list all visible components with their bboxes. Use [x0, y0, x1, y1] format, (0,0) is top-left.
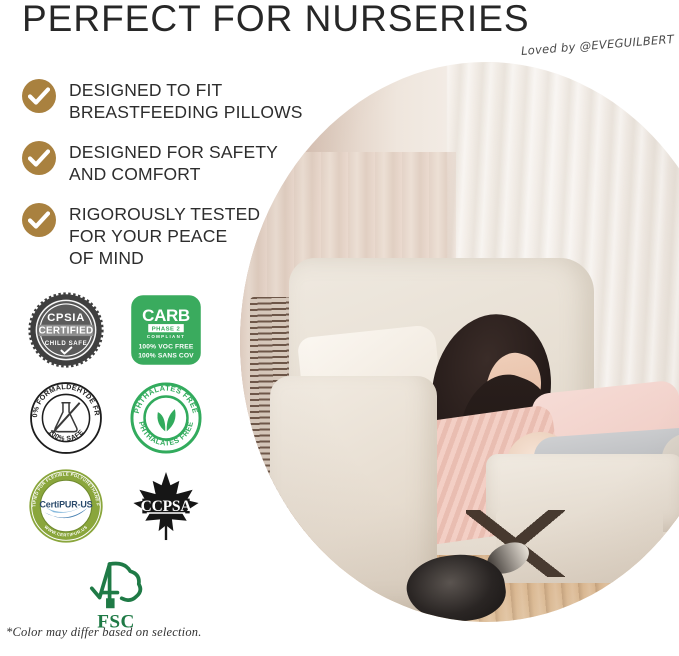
cpsia-certified-badge-icon: CPSIA CERTIFIED CHILD SAFE — [28, 292, 104, 368]
photo-vignette — [240, 62, 679, 622]
formaldehyde-free-badge-icon: 100% FORMALDEHYDE FREE 100% SAFE — [28, 380, 104, 456]
feature-label: DESIGNED TO FIT BREASTFEEDING PILLOWS — [69, 78, 303, 123]
svg-text:CertiPUR-US: CertiPUR-US — [39, 500, 92, 510]
feature-label: RIGOROUSLY TESTED FOR YOUR PEACE OF MIND — [69, 202, 260, 269]
svg-text:CERTIFIED: CERTIFIED — [39, 325, 94, 336]
fsc-tree-badge-icon: FSC — [80, 557, 152, 631]
feature-list: DESIGNED TO FIT BREASTFEEDING PILLOWS DE… — [22, 78, 303, 286]
badge-row: CPSIA CERTIFIED CHILD SAFE CARB PHASE 2 … — [16, 286, 216, 374]
lifestyle-photo — [240, 62, 679, 622]
certipur-us-badge-icon: CERTIFIED FOR FLEXIBLE POLYURETHANE FOAM… — [27, 467, 105, 545]
svg-text:CARB: CARB — [142, 306, 190, 325]
page-title: PERFECT FOR NURSERIES — [22, 0, 530, 40]
list-item: DESIGNED TO FIT BREASTFEEDING PILLOWS — [22, 78, 303, 123]
feature-label: DESIGNED FOR SAFETY AND COMFORT — [69, 140, 278, 185]
photo-credit: Loved by @EVEGUILBERT — [520, 32, 674, 58]
color-disclaimer: *Color may differ based on selection. — [6, 625, 202, 640]
ccpsa-maple-leaf-badge-icon: CCPSA — [129, 469, 203, 543]
certification-badges: CPSIA CERTIFIED CHILD SAFE CARB PHASE 2 … — [16, 286, 216, 638]
badge-row: CERTIFIED FOR FLEXIBLE POLYURETHANE FOAM… — [16, 462, 216, 550]
svg-text:100% VOC FREE: 100% VOC FREE — [139, 344, 194, 351]
product-feature-panel: PERFECT FOR NURSERIES Loved by @EVEGUILB… — [0, 0, 679, 656]
check-circle-icon — [22, 79, 56, 113]
svg-text:PHTHALATES FREE: PHTHALATES FREE — [132, 383, 200, 414]
svg-text:CHILD SAFE: CHILD SAFE — [45, 340, 88, 347]
svg-text:100% SAFE: 100% SAFE — [47, 429, 86, 443]
svg-text:100% SANS COV: 100% SANS COV — [138, 352, 194, 359]
badge-row: 100% FORMALDEHYDE FREE 100% SAFE — [16, 374, 216, 462]
carb-phase-2-badge-icon: CARB PHASE 2 COMPLIANT 100% VOC FREE 100… — [129, 293, 203, 367]
badge-cell: CERTIFIED FOR FLEXIBLE POLYURETHANE FOAM… — [16, 467, 116, 545]
check-circle-icon — [22, 203, 56, 237]
svg-text:CPSIA: CPSIA — [47, 312, 85, 324]
badge-cell: CCPSA — [116, 469, 216, 543]
phthalates-free-badge-icon: PHTHALATES FREE PHTHALATES FREE — [129, 381, 203, 455]
svg-text:PHASE 2: PHASE 2 — [152, 326, 181, 332]
badge-cell: PHTHALATES FREE PHTHALATES FREE — [116, 381, 216, 455]
svg-text:100% FORMALDEHYDE FREE: 100% FORMALDEHYDE FREE — [28, 380, 101, 418]
badge-cell: 100% FORMALDEHYDE FREE 100% SAFE — [16, 380, 116, 456]
list-item: RIGOROUSLY TESTED FOR YOUR PEACE OF MIND — [22, 202, 303, 269]
svg-text:COMPLIANT: COMPLIANT — [147, 334, 185, 339]
check-circle-icon — [22, 141, 56, 175]
badge-cell: FSC — [16, 557, 216, 631]
badge-cell: CARB PHASE 2 COMPLIANT 100% VOC FREE 100… — [116, 293, 216, 367]
list-item: DESIGNED FOR SAFETY AND COMFORT — [22, 140, 303, 185]
badge-cell: CPSIA CERTIFIED CHILD SAFE — [16, 292, 116, 368]
